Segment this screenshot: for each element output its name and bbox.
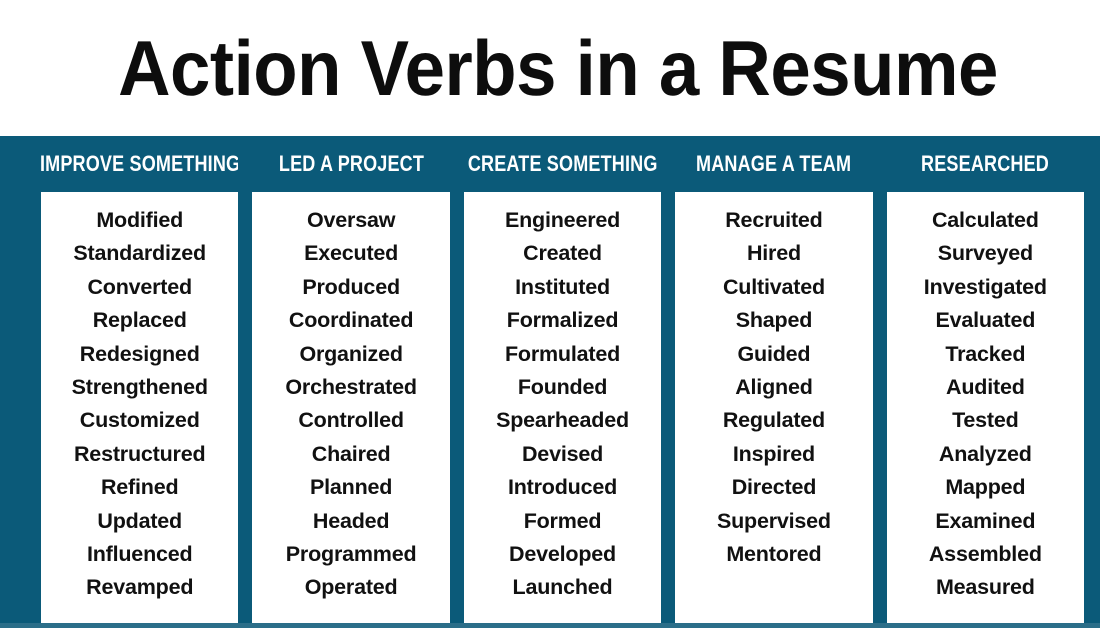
verb-item: Evaluated [935,304,1035,337]
verb-item: Cultivated [723,271,825,304]
column-header-manage-a-team: MANAGE A TEAM [696,136,851,192]
verb-item: Strengthened [72,371,208,404]
verb-item: Investigated [924,271,1047,304]
verb-item: Planned [310,471,392,504]
verb-item: Inspired [733,438,815,471]
verb-item: Oversaw [307,204,395,237]
verb-item: Introduced [508,471,617,504]
title-area: Action Verbs in a Resume [0,0,1116,136]
verb-card-manage-a-team: Recruited Hired Cultivated Shaped Guided… [675,192,872,628]
verb-item: Engineered [505,204,620,237]
verb-item: Directed [732,471,816,504]
verb-column-researched: RESEARCHED Calculated Surveyed Investiga… [887,136,1084,628]
verb-column-create-something: CREATE SOMETHING Engineered Created Inst… [464,136,661,628]
verb-item: Produced [302,271,400,304]
verb-item: Devised [522,438,603,471]
verb-item: Spearheaded [496,404,629,437]
verb-item: Updated [97,505,182,538]
verb-item: Developed [509,538,616,571]
verb-item: Examined [935,505,1035,538]
verb-item: Executed [304,237,398,270]
verb-item: Redesigned [80,338,200,371]
verb-item: Influenced [87,538,193,571]
column-header-wrap: LED A PROJECT [252,136,449,192]
verb-item: Standardized [73,237,206,270]
verb-item: Formed [524,505,602,538]
verb-item: Controlled [298,404,404,437]
verb-card-create-something: Engineered Created Instituted Formalized… [464,192,661,628]
column-header-improve-something: IMPROVE SOMETHING [41,136,238,192]
verb-item: Regulated [723,404,825,437]
column-header-wrap: IMPROVE SOMETHING [41,136,238,192]
verb-item: Converted [87,271,192,304]
verb-item: Chaired [312,438,391,471]
verb-item: Headed [313,505,389,538]
verb-item: Launched [513,571,613,604]
verb-item: Coordinated [289,304,413,337]
verb-item: Aligned [735,371,812,404]
verb-item: Calculated [932,204,1039,237]
verb-item: Guided [737,338,810,371]
column-header-wrap: RESEARCHED [887,136,1084,192]
verb-item: Analyzed [939,438,1032,471]
verb-item: Customized [80,404,200,437]
verb-card-improve-something: Modified Standardized Converted Replaced… [41,192,238,628]
verb-item: Tracked [945,338,1025,371]
column-header-create-something: CREATE SOMETHING [468,136,658,192]
verb-item: Refined [101,471,178,504]
verb-card-researched: Calculated Surveyed Investigated Evaluat… [887,192,1084,628]
page-title: Action Verbs in a Resume [118,29,998,107]
verb-column-led-a-project: LED A PROJECT Oversaw Executed Produced … [252,136,449,628]
verb-item: Formulated [505,338,620,371]
verb-item: Programmed [286,538,417,571]
verb-item: Mentored [726,538,821,571]
verb-item: Supervised [717,505,831,538]
verb-item: Orchestrated [285,371,416,404]
verb-item: Shaped [736,304,812,337]
verb-item: Hired [747,237,801,270]
verb-item: Revamped [86,571,193,604]
verb-card-led-a-project: Oversaw Executed Produced Coordinated Or… [252,192,449,628]
verb-item: Mapped [945,471,1025,504]
verb-column-improve-something: IMPROVE SOMETHING Modified Standardized … [41,136,238,628]
verb-item: Instituted [515,271,610,304]
verb-item: Recruited [725,204,822,237]
bottom-teal-strip [0,623,1100,628]
verb-item: Audited [946,371,1025,404]
verb-item: Replaced [93,304,187,337]
verb-item: Modified [96,204,183,237]
verb-item: Created [523,237,602,270]
column-header-wrap: CREATE SOMETHING [464,136,661,192]
verb-item: Tested [952,404,1019,437]
column-header-led-a-project: LED A PROJECT [279,136,424,192]
verb-columns-container: IMPROVE SOMETHING Modified Standardized … [0,136,1100,628]
verb-item: Restructured [74,438,205,471]
poster-root: Action Verbs in a Resume IMPROVE SOMETHI… [0,0,1116,628]
verb-column-manage-a-team: MANAGE A TEAM Recruited Hired Cultivated… [675,136,872,628]
verb-item: Formalized [507,304,619,337]
column-header-wrap: MANAGE A TEAM [675,136,872,192]
column-header-researched: RESEARCHED [921,136,1049,192]
verb-item: Assembled [929,538,1042,571]
verb-item: Organized [299,338,402,371]
verb-item: Operated [305,571,398,604]
verb-item: Measured [936,571,1035,604]
verb-item: Surveyed [938,237,1033,270]
verb-item: Founded [518,371,607,404]
